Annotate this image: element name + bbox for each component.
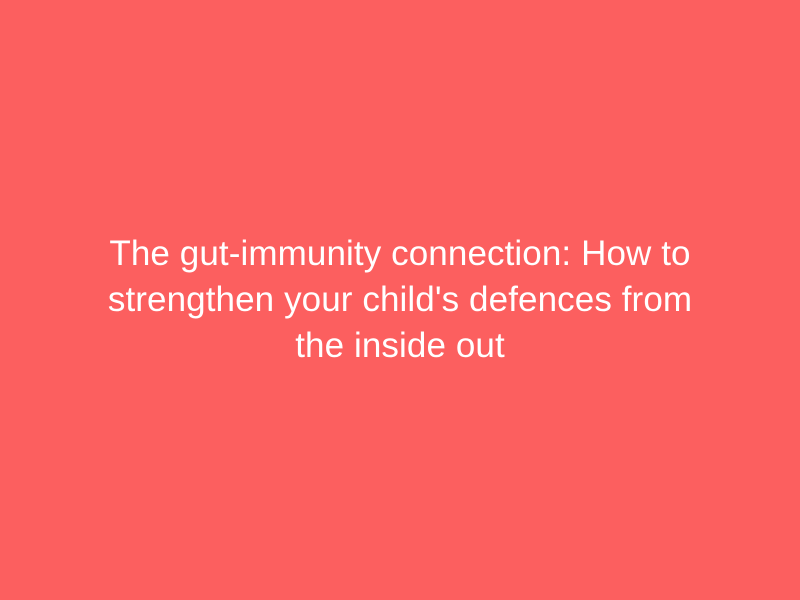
headline-card: The gut-immunity connection: How to stre…: [0, 0, 800, 600]
headline-text-block: The gut-immunity connection: How to stre…: [93, 231, 708, 369]
page-title: The gut-immunity connection: How to stre…: [93, 231, 708, 369]
